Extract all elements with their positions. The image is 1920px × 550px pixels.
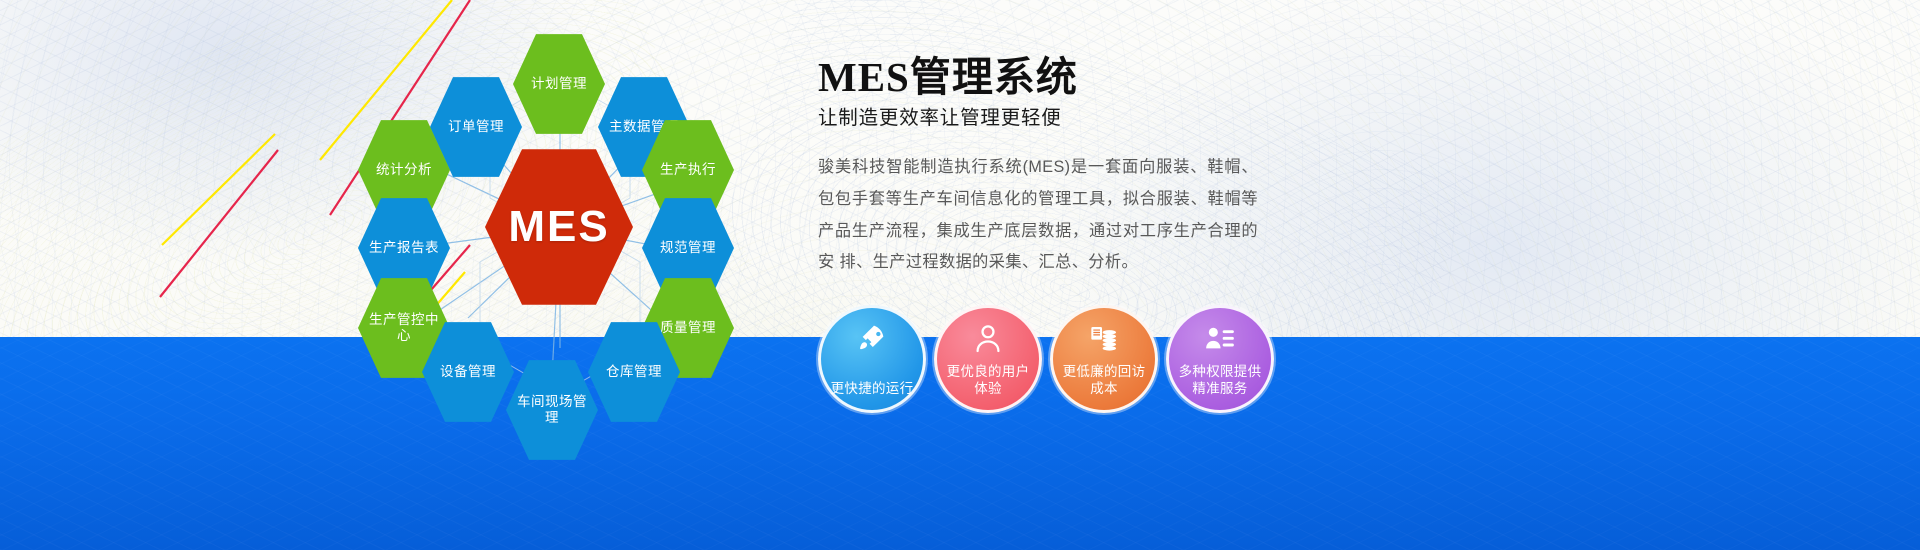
hex-label: 仓库管理 xyxy=(600,364,668,380)
hex-core-label: MES xyxy=(502,200,615,254)
feature-badge-multi-permission-service[interactable]: 多种权限提供精准服务 xyxy=(1166,305,1274,413)
info-column: MES管理系统 让制造更效率让管理更轻便 骏美科技智能制造执行系统(MES)是一… xyxy=(818,55,1288,279)
feature-label: 更优良的用户体验 xyxy=(940,363,1036,398)
feature-label: 多种权限提供精准服务 xyxy=(1172,363,1268,398)
feature-badges: 更快捷的运行 更优良的用户体验 更低廉的回访成本 多种权限提供精准服务 xyxy=(818,305,1274,413)
coins-icon xyxy=(1087,322,1121,356)
hex-label: 质量管理 xyxy=(654,320,722,336)
user-icon xyxy=(971,322,1005,356)
hex-label: 统计分析 xyxy=(370,162,438,178)
mes-hero-banner: 计划管理 订单管理 主数据管理 生产执行 统计分析 规范管理 生产报告表 质量管… xyxy=(0,0,1920,550)
hex-label: 设备管理 xyxy=(434,364,502,380)
feature-badge-lower-revisit-cost[interactable]: 更低廉的回访成本 xyxy=(1050,305,1158,413)
user-list-icon xyxy=(1203,322,1237,356)
feature-badge-faster-operation[interactable]: 更快捷的运行 xyxy=(818,305,926,413)
hex-label: 生产报告表 xyxy=(363,240,445,256)
page-title: MES管理系统 xyxy=(818,55,1288,100)
hex-label: 订单管理 xyxy=(442,119,510,135)
hex-label: 车间现场管理 xyxy=(506,394,598,427)
feature-label: 更低廉的回访成本 xyxy=(1056,363,1152,398)
hex-label: 规范管理 xyxy=(654,240,722,256)
mes-hexagon-diagram: 计划管理 订单管理 主数据管理 生产执行 统计分析 规范管理 生产报告表 质量管… xyxy=(330,18,790,438)
hex-label: 计划管理 xyxy=(525,76,593,92)
rocket-icon xyxy=(855,322,889,356)
hex-label: 生产管控中心 xyxy=(358,312,450,345)
feature-badge-better-user-experience[interactable]: 更优良的用户体验 xyxy=(934,305,1042,413)
description-paragraph: 骏美科技智能制造执行系统(MES)是一套面向服装、鞋帽、包包手套等生产车间信息化… xyxy=(818,152,1258,278)
hex-label: 生产执行 xyxy=(654,162,722,178)
page-subtitle: 让制造更效率让管理更轻便 xyxy=(818,107,1288,130)
feature-label: 更快捷的运行 xyxy=(824,380,920,398)
